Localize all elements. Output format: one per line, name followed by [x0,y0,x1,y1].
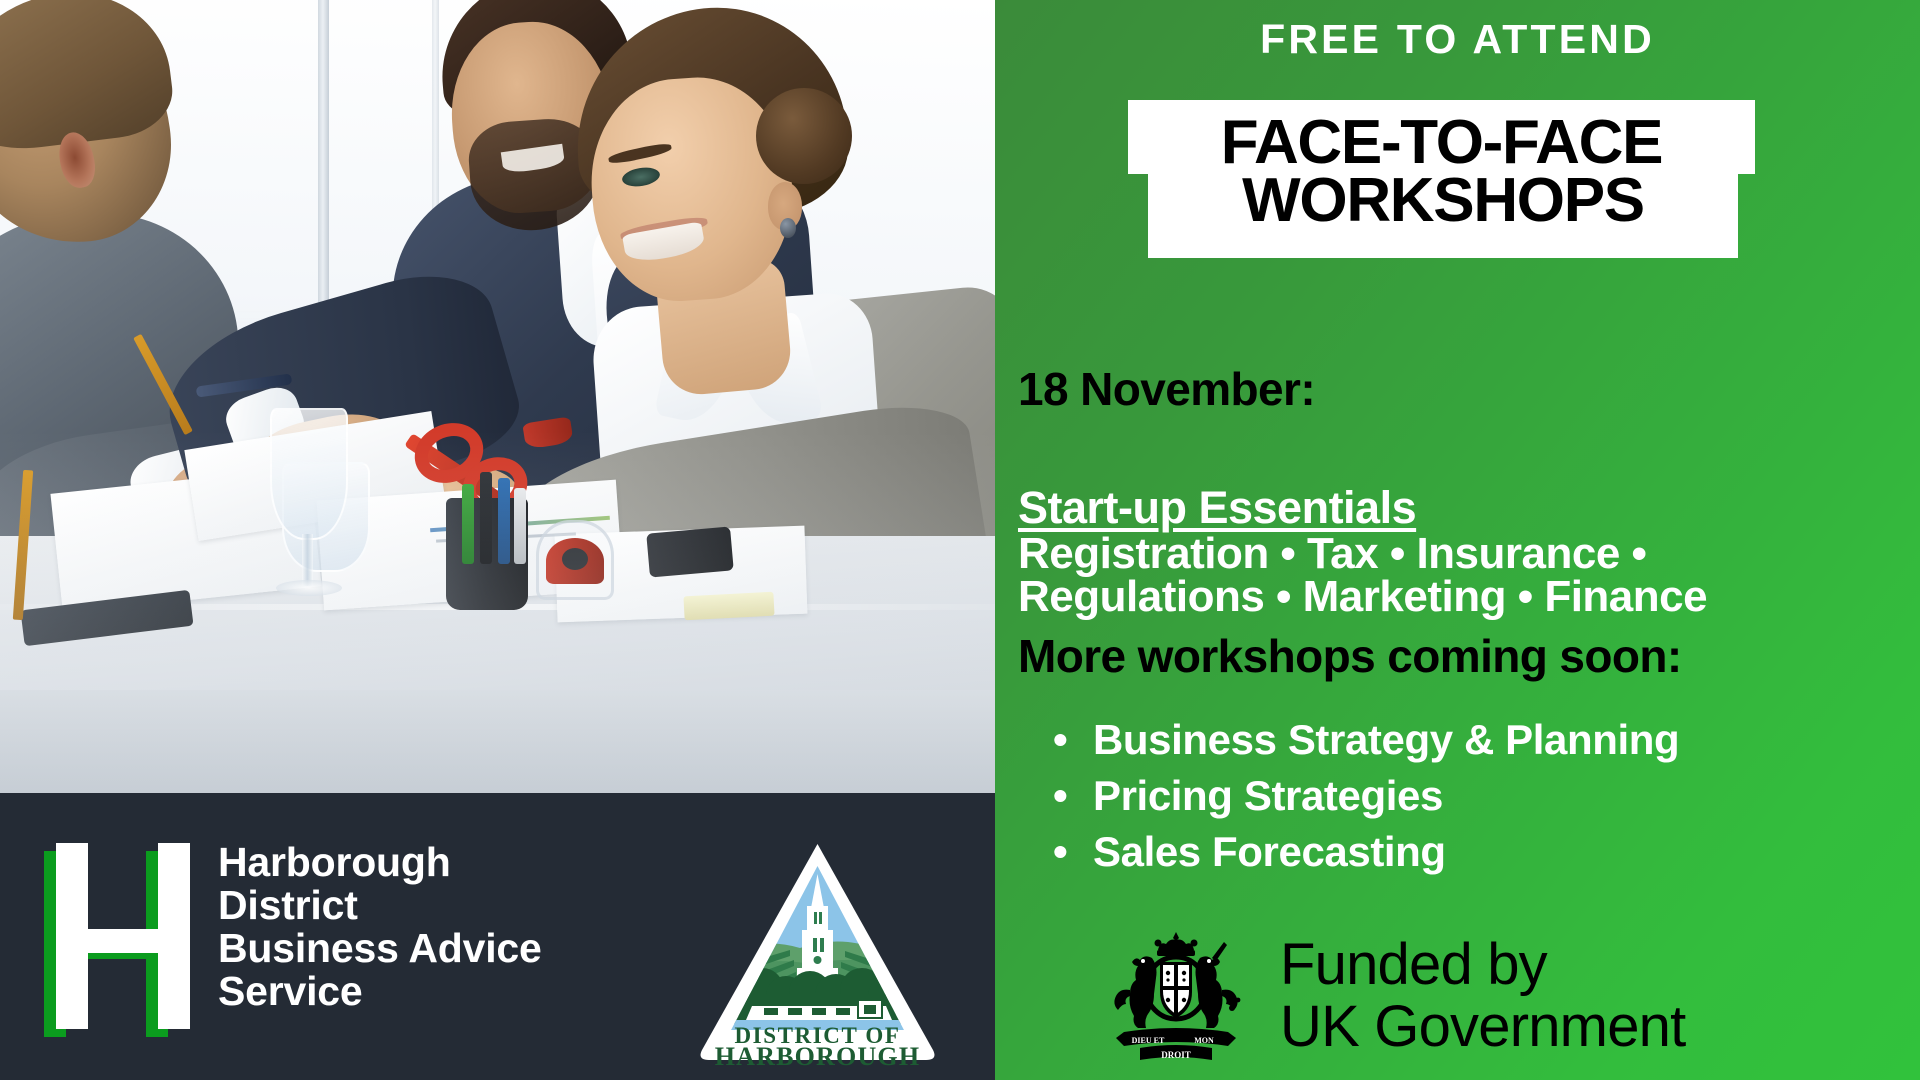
glass-base [276,580,342,596]
funded-by-uk-government-logo: DIEU ET MON DROIT Funded by UK Governmen… [1100,926,1890,1066]
water-glass [270,408,348,540]
more-workshops-heading: More workshops coming soon: [1018,629,1682,683]
harborough-h-monogram-icon [44,843,194,1037]
org-line-2: District [218,884,638,927]
green-info-panel: FREE TO ATTEND FACE-TO-FACE WORKSHOPS 18… [995,0,1920,1080]
org-line-4: Service [218,970,638,1013]
workshop-title-block: FACE-TO-FACE WORKSHOPS [1128,100,1755,258]
hero-photo [0,0,995,793]
funded-by-line-2: UK Government [1280,996,1685,1058]
list-item: Business Strategy & Planning [1053,712,1679,768]
topic-heading: Start-up Essentials [1018,482,1416,534]
title-top-band: FACE-TO-FACE [1128,100,1755,174]
free-to-attend-label: FREE TO ATTEND [995,16,1920,63]
org-line-3: Business Advice [218,927,638,970]
pen [498,478,510,564]
funded-by-text: Funded by UK Government [1280,934,1685,1058]
list-item: Pricing Strategies [1053,768,1679,824]
title-bottom-band: WORKSHOPS [1148,170,1738,258]
svg-text:MON: MON [1194,1036,1214,1045]
person-right-earring [780,218,796,238]
person-right-hair-bun [756,88,852,184]
funded-by-line-1: Funded by [1280,934,1685,996]
tape-roll-core [562,548,588,570]
sticky-notepad [683,592,774,621]
promotional-poster: Harborough District Business Advice Serv… [0,0,1920,1080]
title-line-1: FACE-TO-FACE [1128,112,1755,174]
uk-royal-coat-of-arms-icon: DIEU ET MON DROIT [1100,928,1252,1064]
svg-text:DROIT: DROIT [1161,1050,1191,1060]
pen [462,484,474,564]
org-line-1: Harborough [218,841,638,884]
pen [480,472,492,564]
event-date-heading: 18 November: [1018,362,1898,416]
district-of-harborough-crest-icon: DISTRICT OF HARBOROUGH [690,838,945,1066]
title-line-2: WORKSHOPS [1148,170,1738,232]
smartphone [646,526,734,577]
organisation-name: Harborough District Business Advice Serv… [218,841,638,1013]
topic-subjects-line-2: Regulations • Marketing • Finance [1018,572,1707,622]
svg-text:DIEU ET: DIEU ET [1132,1036,1165,1045]
list-item: Sales Forecasting [1053,824,1679,880]
pen [514,488,526,564]
desk-front-panel [0,690,995,793]
glass-stem [302,534,313,586]
upcoming-workshops-list: Business Strategy & Planning Pricing Str… [1053,712,1679,880]
crest-line-2: HARBOROUGH [715,1042,921,1066]
